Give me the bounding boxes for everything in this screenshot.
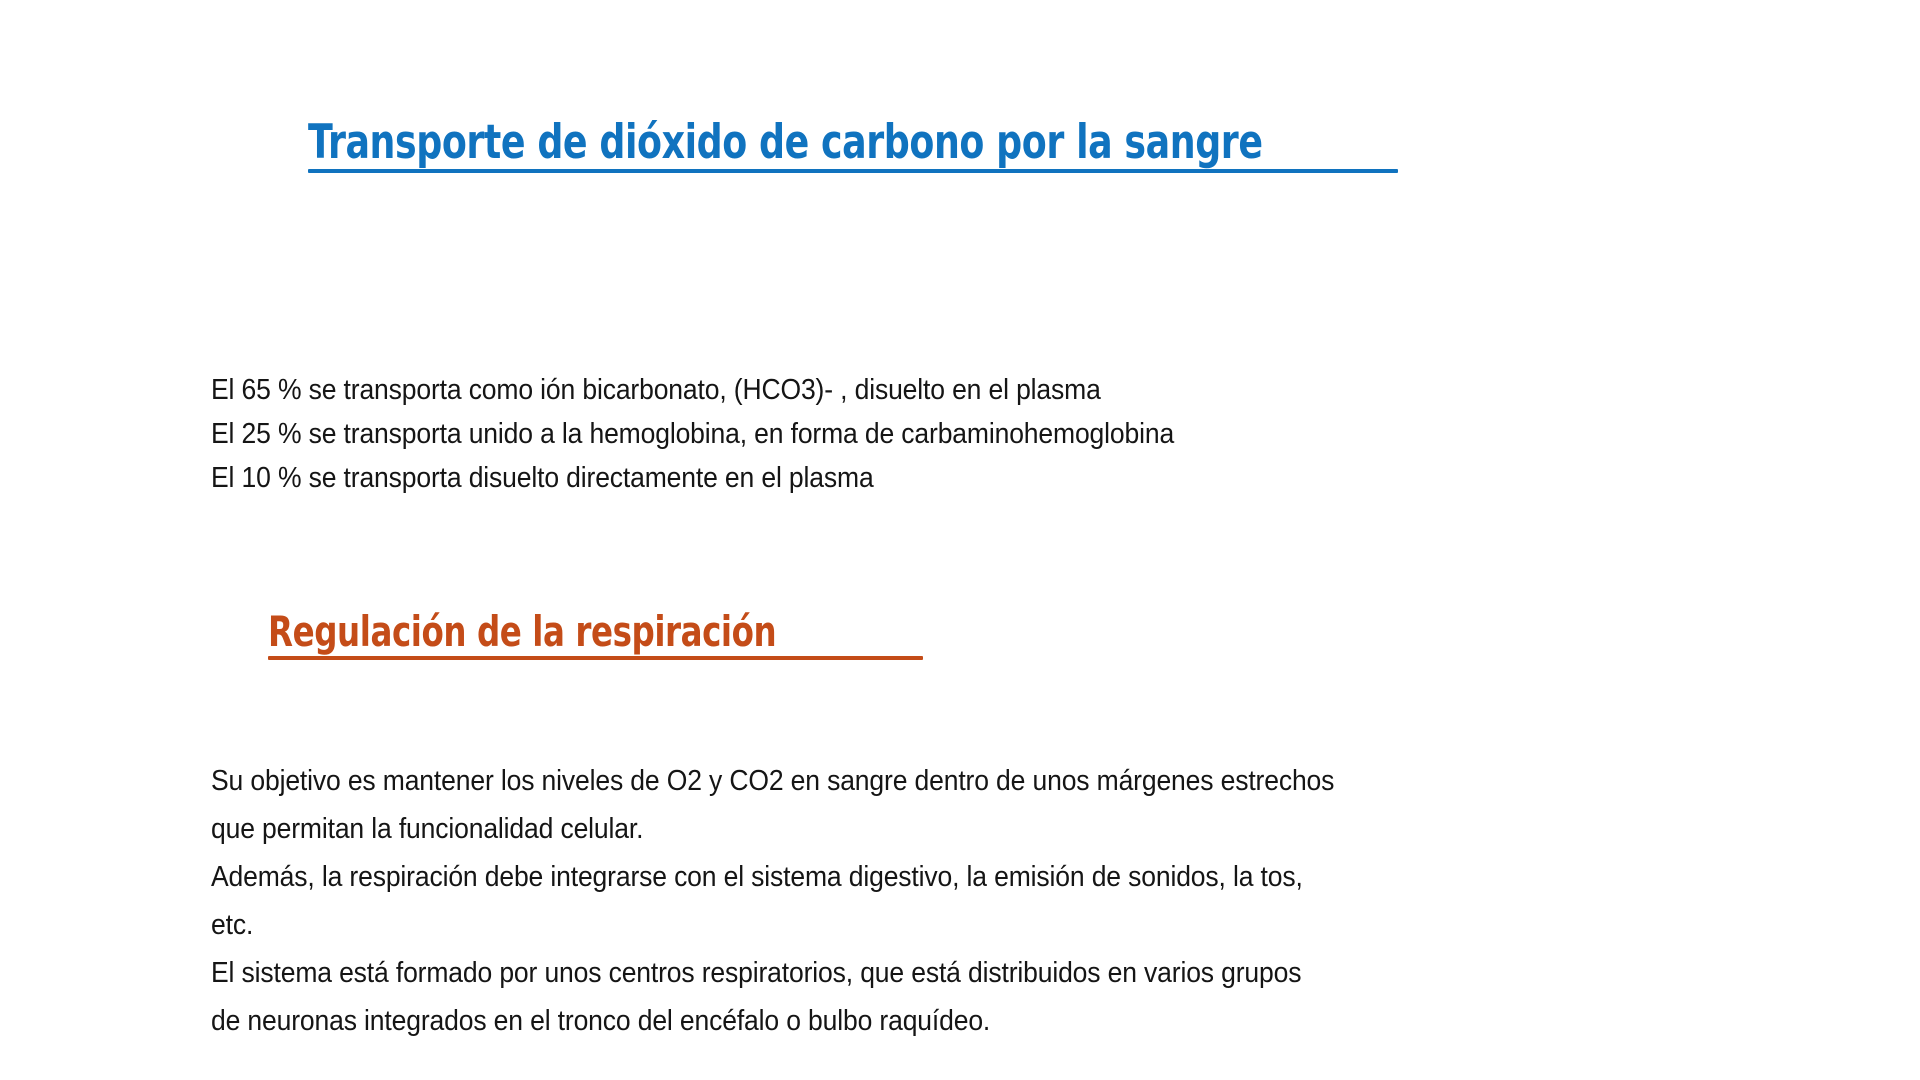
heading-regulacion-respiracion-underline (268, 656, 923, 660)
paragraph-line: Su objetivo es mantener los niveles de O… (211, 757, 1771, 805)
heading-transporte-co2: Transporte de dióxido de carbono por la … (308, 118, 1418, 173)
heading-regulacion-respiracion: Regulación de la respiración (268, 610, 859, 660)
paragraph-regulacion: Su objetivo es mantener los niveles de O… (211, 757, 1771, 1045)
paragraph-line: etc. (211, 901, 1771, 949)
paragraph-line-text: de neuronas integrados en el tronco del … (211, 997, 990, 1045)
heading-transporte-co2-text: Transporte de dióxido de carbono por la … (308, 118, 1263, 167)
paragraph-line-text: Además, la respiración debe integrarse c… (211, 853, 1303, 901)
paragraph-line-text: El 10 % se transporta disuelto directame… (211, 456, 874, 500)
heading-regulacion-respiracion-text: Regulación de la respiración (268, 610, 776, 654)
paragraph-line-text: Su objetivo es mantener los niveles de O… (211, 757, 1334, 805)
paragraph-line: El 25 % se transporta unido a la hemoglo… (211, 412, 1247, 456)
paragraph-line-text: El 65 % se transporta como ión bicarbona… (211, 368, 1101, 412)
paragraph-line: de neuronas integrados en el tronco del … (211, 997, 1771, 1045)
paragraph-line: que permitan la funcionalidad celular. (211, 805, 1771, 853)
paragraph-line-text: El 25 % se transporta unido a la hemoglo… (211, 412, 1174, 456)
paragraph-line: El 65 % se transporta como ión bicarbona… (211, 368, 1247, 412)
slide-canvas: Transporte de dióxido de carbono por la … (0, 0, 1920, 1080)
heading-transporte-co2-underline (308, 169, 1398, 173)
paragraph-line: El sistema está formado por unos centros… (211, 949, 1771, 997)
paragraph-line: El 10 % se transporta disuelto directame… (211, 456, 1247, 500)
paragraph-transporte: El 65 % se transporta como ión bicarbona… (211, 368, 1247, 500)
paragraph-line: Además, la respiración debe integrarse c… (211, 853, 1771, 901)
paragraph-line-text: etc. (211, 901, 253, 949)
paragraph-line-text: El sistema está formado por unos centros… (211, 949, 1301, 997)
paragraph-line-text: que permitan la funcionalidad celular. (211, 805, 643, 853)
